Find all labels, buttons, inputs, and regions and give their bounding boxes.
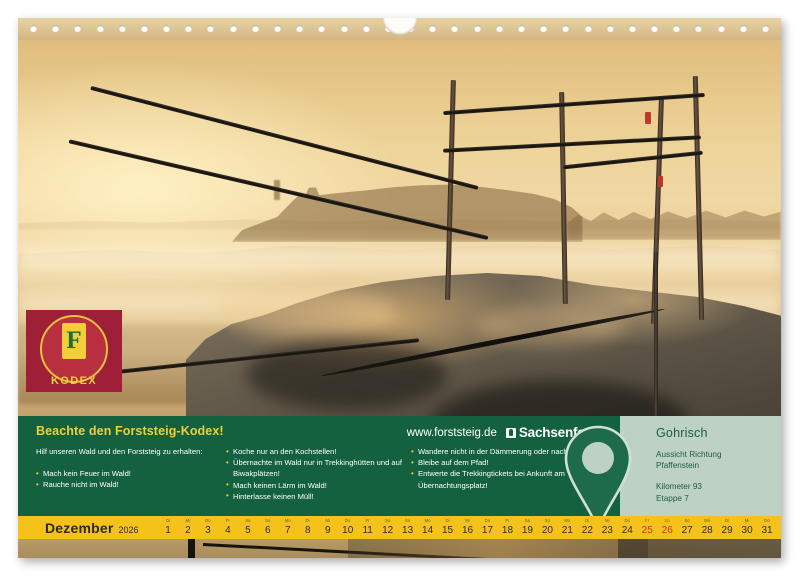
trail-marker-tag [658, 176, 663, 187]
day-of-week-label: Di [298, 518, 318, 523]
day-cell-1[interactable]: Di1 [158, 516, 178, 539]
day-number: 3 [205, 523, 211, 539]
day-of-week-label: Mo [557, 518, 577, 523]
kodex-rules-panel: Beachte den Forststeig-Kodex! Hilf unser… [18, 416, 620, 516]
day-number: 27 [682, 523, 693, 539]
kodex-column-1: Hilf unseren Wald und den Forststeig zu … [36, 446, 226, 502]
punch-hole [629, 25, 636, 32]
punch-hole [185, 25, 192, 32]
punch-hole [363, 25, 370, 32]
day-cell-8[interactable]: Di8 [298, 516, 318, 539]
day-cell-5[interactable]: Sa5 [238, 516, 258, 539]
location-stage: Etappe 7 [656, 493, 781, 504]
day-number: 14 [422, 523, 433, 539]
photo-bottom-sliver [18, 539, 781, 558]
day-number: 28 [702, 523, 713, 539]
trail-marker-tag [645, 112, 651, 124]
kodex-rule-item: Rauche nicht im Wald! [36, 479, 226, 490]
punch-hole [451, 25, 458, 32]
day-number: 6 [265, 523, 271, 539]
punch-hole [540, 25, 547, 32]
day-of-week-label: Fr [637, 518, 657, 523]
day-of-week-label: Fr [358, 518, 378, 523]
day-number: 19 [522, 523, 533, 539]
day-cell-23[interactable]: Mi23 [597, 516, 617, 539]
location-view-line-1: Aussicht Richtung [656, 449, 781, 460]
day-number: 4 [225, 523, 231, 539]
month-date-strip: Dezember 2026 Di1Mi2Do3Fr4Sa5So6Mo7Di8Mi… [18, 516, 781, 539]
day-number: 12 [382, 523, 393, 539]
punch-hole [740, 25, 747, 32]
day-cell-26[interactable]: Sa26 [657, 516, 677, 539]
day-number: 24 [622, 523, 633, 539]
day-number: 30 [742, 523, 753, 539]
day-number: 22 [582, 523, 593, 539]
website-url[interactable]: www.forststeig.de [407, 427, 497, 439]
month-label-block: Dezember 2026 [18, 520, 158, 536]
punch-hole [518, 25, 525, 32]
day-of-week-label: Sa [657, 518, 677, 523]
day-cell-6[interactable]: So6 [258, 516, 278, 539]
day-cell-22[interactable]: Di22 [577, 516, 597, 539]
location-view-line-2: Pfaffenstein [656, 460, 781, 471]
punch-hole [74, 25, 81, 32]
day-number: 8 [305, 523, 311, 539]
day-cell-30[interactable]: Mi30 [737, 516, 757, 539]
day-cell-2[interactable]: Mi2 [178, 516, 198, 539]
day-of-week-label: Di [438, 518, 458, 523]
day-number: 15 [442, 523, 453, 539]
location-panel: Gohrisch Aussicht Richtung Pfaffenstein … [620, 416, 781, 516]
punch-hole [585, 25, 592, 32]
punch-hole [97, 25, 104, 32]
kodex-rule-item: Mach kein Feuer im Wald! [36, 468, 226, 479]
day-cell-9[interactable]: Mi9 [318, 516, 338, 539]
day-number: 2 [185, 523, 191, 539]
day-cell-16[interactable]: Mi16 [458, 516, 478, 539]
day-cell-17[interactable]: Do17 [478, 516, 498, 539]
day-of-week-label: Fr [218, 518, 238, 523]
punch-hole [341, 25, 348, 32]
day-cell-12[interactable]: Sa12 [378, 516, 398, 539]
day-of-week-label: Fr [497, 518, 517, 523]
day-cell-27[interactable]: So27 [677, 516, 697, 539]
punch-hole [119, 25, 126, 32]
day-cell-28[interactable]: Mo28 [697, 516, 717, 539]
day-of-week-label: Di [158, 518, 178, 523]
day-number: 9 [325, 523, 331, 539]
day-of-week-label: Di [577, 518, 597, 523]
day-of-week-label: Mi [597, 518, 617, 523]
day-of-week-label: Do [478, 518, 498, 523]
punch-hole [52, 25, 59, 32]
year-label: 2026 [119, 525, 139, 535]
day-number: 20 [542, 523, 553, 539]
day-number: 16 [462, 523, 473, 539]
day-cell-13[interactable]: So13 [398, 516, 418, 539]
day-of-week-label: Sa [517, 518, 537, 523]
day-of-week-label: Mi [737, 518, 757, 523]
day-of-week-label: Sa [378, 518, 398, 523]
punch-hole [30, 25, 37, 32]
kodex-wordmark: KODEX [26, 375, 122, 387]
punch-hole [318, 25, 325, 32]
punch-hole [274, 25, 281, 32]
day-of-week-label: Mi [178, 518, 198, 523]
kodex-column-2: Koche nur an den Kochstellen! Übernachte… [226, 446, 411, 502]
punch-hole [163, 25, 170, 32]
day-number: 31 [761, 523, 772, 539]
kodex-rule-item: Hinterlasse keinen Müll! [226, 491, 411, 502]
day-number: 23 [602, 523, 613, 539]
day-of-week-label: Di [717, 518, 737, 523]
punch-hole [762, 25, 769, 32]
spacer [656, 471, 781, 481]
kodex-rule-item: Übernachte im Wald nur in Trekkinghütten… [226, 457, 411, 479]
month-name: Dezember [45, 520, 114, 536]
day-of-week-label: Do [198, 518, 218, 523]
days-row: Di1Mi2Do3Fr4Sa5So6Mo7Di8Mi9Do10Fr11Sa12S… [158, 516, 781, 539]
punch-hole [207, 25, 214, 32]
day-number: 26 [662, 523, 673, 539]
sliver-rock-dark [618, 539, 781, 558]
day-cell-24[interactable]: Do24 [617, 516, 637, 539]
kodex-rule-item: Mach keinen Lärm im Wald! [226, 480, 411, 491]
day-number: 25 [642, 523, 653, 539]
day-of-week-label: Mi [318, 518, 338, 523]
punch-hole [474, 25, 481, 32]
day-of-week-label: Do [757, 518, 777, 523]
day-cell-11[interactable]: Fr11 [358, 516, 378, 539]
day-cell-29[interactable]: Di29 [717, 516, 737, 539]
day-number: 11 [362, 523, 372, 539]
kodex-rule-columns: Hilf unseren Wald und den Forststeig zu … [36, 446, 620, 502]
day-cell-7[interactable]: Mo7 [278, 516, 298, 539]
punch-hole [429, 25, 436, 32]
punch-hole [296, 25, 303, 32]
punch-hole [230, 25, 237, 32]
day-number: 7 [285, 523, 291, 539]
day-number: 10 [342, 523, 353, 539]
day-of-week-label: Mo [418, 518, 438, 523]
day-of-week-label: So [258, 518, 278, 523]
day-number: 29 [722, 523, 733, 539]
sachsenforst-mark-icon [506, 428, 516, 438]
location-kilometer: Kilometer 93 [656, 481, 781, 492]
forststeig-kodex-badge: F KODEX [26, 310, 122, 392]
day-cell-20[interactable]: So20 [537, 516, 557, 539]
punch-hole [252, 25, 259, 32]
day-of-week-label: Do [617, 518, 637, 523]
day-number: 17 [482, 523, 493, 539]
day-of-week-label: Sa [238, 518, 258, 523]
day-cell-18[interactable]: Fr18 [497, 516, 517, 539]
kodex-rule-item: Koche nur an den Kochstellen! [226, 446, 411, 457]
sliver-rock-texture [348, 539, 648, 558]
punch-hole [718, 25, 725, 32]
rock-shadow [247, 340, 447, 410]
day-cell-25[interactable]: Fr25 [637, 516, 657, 539]
punch-hole [496, 25, 503, 32]
rock-highlight [216, 288, 396, 334]
day-number: 13 [402, 523, 413, 539]
day-number: 18 [502, 523, 513, 539]
forststeig-info-band: Beachte den Forststeig-Kodex! Hilf unser… [18, 416, 781, 516]
day-cell-14[interactable]: Mo14 [418, 516, 438, 539]
day-of-week-label: Do [338, 518, 358, 523]
punch-hole [607, 25, 614, 32]
punch-hole [695, 25, 702, 32]
day-cell-19[interactable]: Sa19 [517, 516, 537, 539]
kodex-letter-f: F [62, 323, 86, 359]
location-name: Gohrisch [656, 426, 781, 440]
day-cell-4[interactable]: Fr4 [218, 516, 238, 539]
kodex-intro-text: Hilf unseren Wald und den Forststeig zu … [36, 446, 226, 457]
day-cell-10[interactable]: Do10 [338, 516, 358, 539]
day-cell-15[interactable]: Di15 [438, 516, 458, 539]
day-of-week-label: Mo [697, 518, 717, 523]
day-number: 1 [165, 523, 171, 539]
day-cell-21[interactable]: Mo21 [557, 516, 577, 539]
punch-hole [673, 25, 680, 32]
calendar-page: F KODEX Beachte den Forststeig-Kodex! Hi… [18, 18, 781, 558]
day-of-week-label: Mi [458, 518, 478, 523]
day-number: 5 [245, 523, 251, 539]
punch-hole [651, 25, 658, 32]
day-cell-31[interactable]: Do31 [757, 516, 777, 539]
day-of-week-label: Mo [278, 518, 298, 523]
punch-hole [562, 25, 569, 32]
sliver-post [188, 539, 195, 558]
day-number: 21 [562, 523, 573, 539]
day-of-week-label: So [677, 518, 697, 523]
punch-hole [141, 25, 148, 32]
day-of-week-label: So [537, 518, 557, 523]
day-of-week-label: So [398, 518, 418, 523]
day-cell-3[interactable]: Do3 [198, 516, 218, 539]
